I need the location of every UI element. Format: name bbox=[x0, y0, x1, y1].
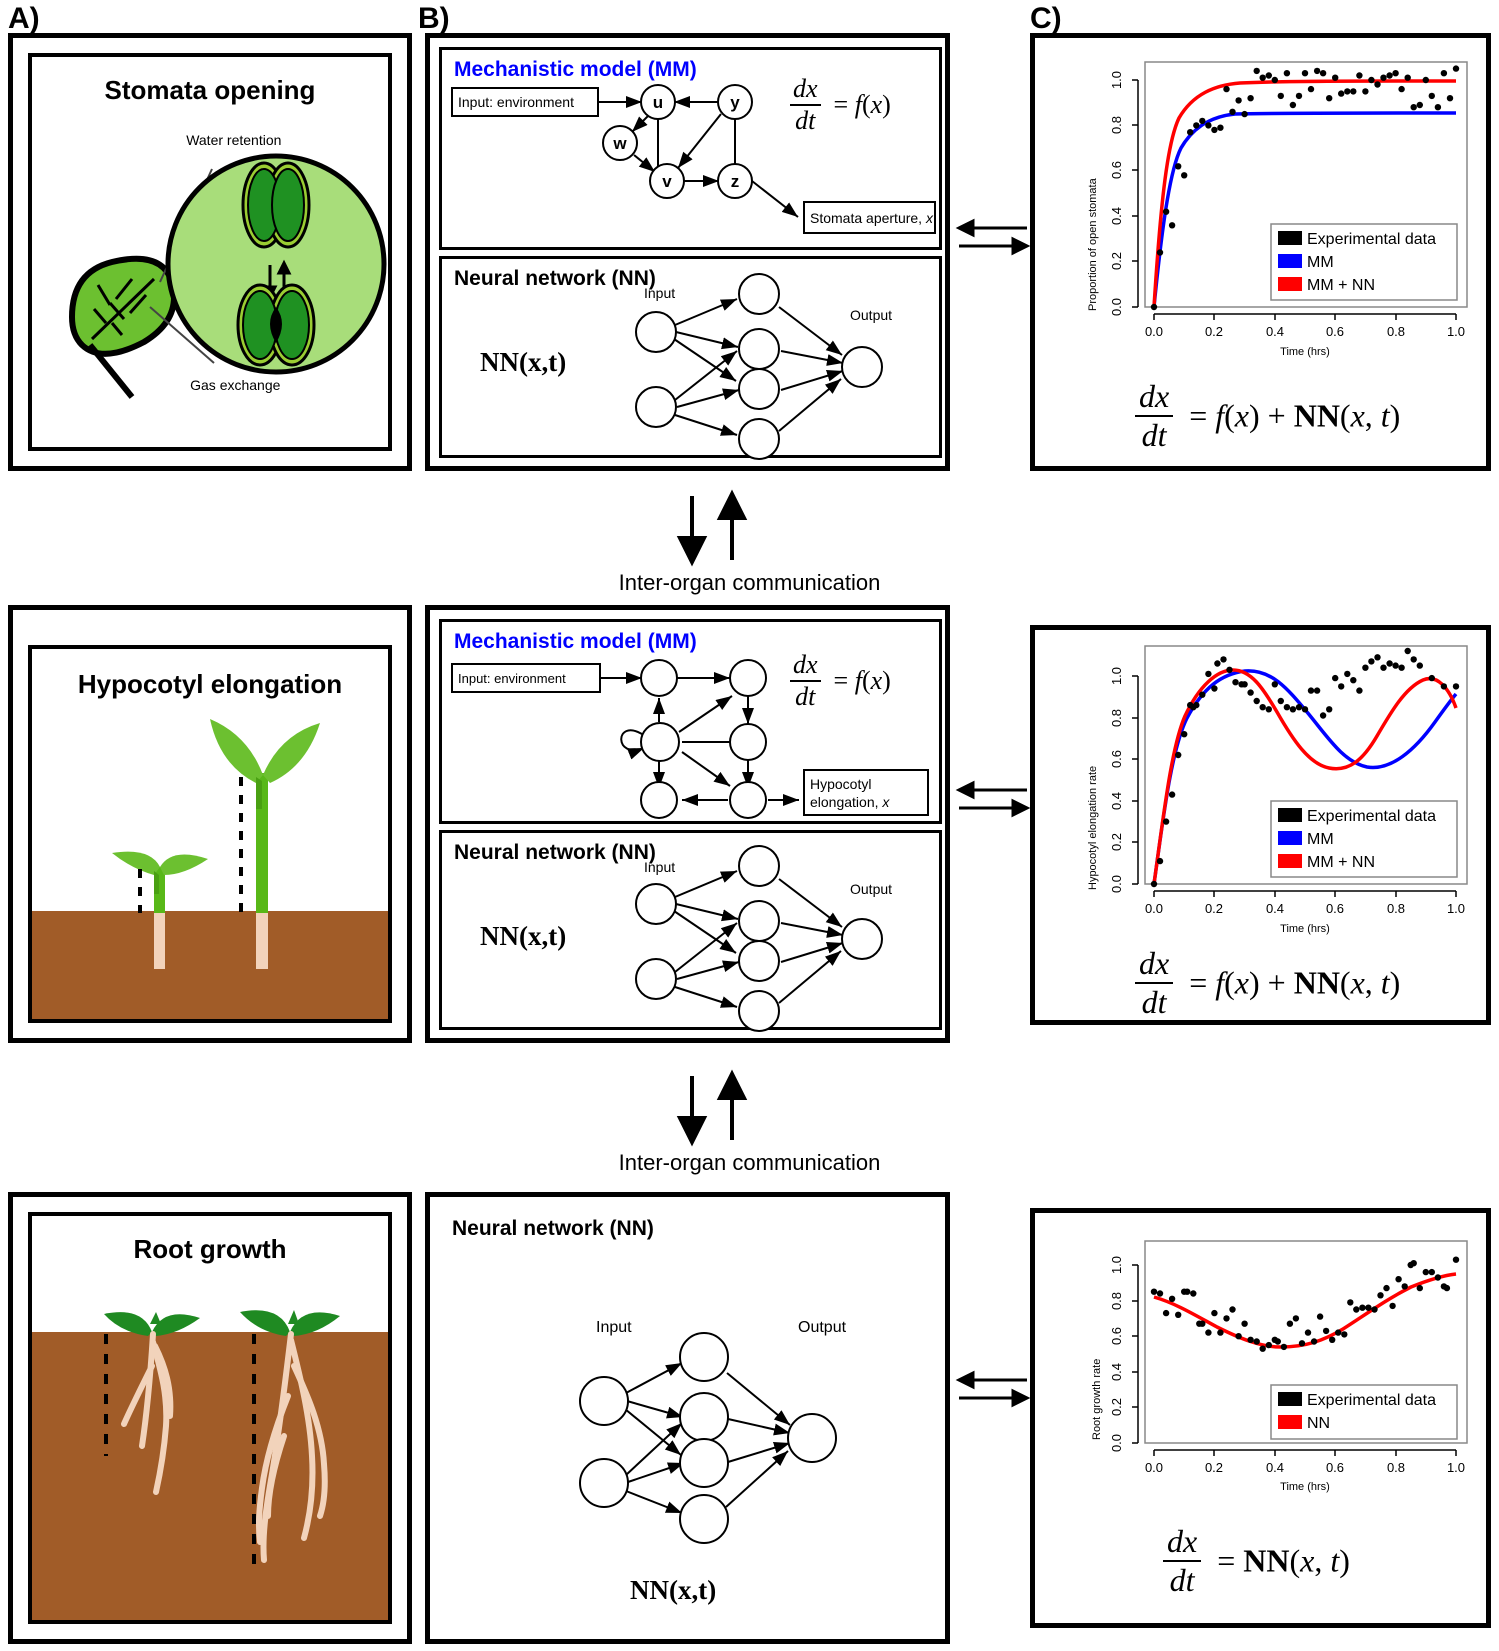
svg-text:MM + NN: MM + NN bbox=[1307, 854, 1375, 871]
root-illustration-box: Root growth bbox=[28, 1212, 392, 1624]
svg-text:0.6: 0.6 bbox=[1326, 901, 1344, 916]
svg-text:1.0: 1.0 bbox=[1109, 71, 1124, 89]
svg-text:0.8: 0.8 bbox=[1387, 1460, 1405, 1475]
svg-text:0.6: 0.6 bbox=[1326, 324, 1344, 339]
svg-text:0.8: 0.8 bbox=[1387, 324, 1405, 339]
svg-text:0.8: 0.8 bbox=[1109, 116, 1124, 134]
svg-text:0.2: 0.2 bbox=[1109, 252, 1124, 270]
inter-organ-communication-1: Inter-organ communication bbox=[0, 570, 1499, 596]
svg-text:elongation, x: elongation, x bbox=[810, 794, 890, 810]
hypocotyl-legend: Experimental data MM MM + NN bbox=[1271, 801, 1457, 877]
stomata-legend: Experimental data MM MM + NN bbox=[1271, 224, 1457, 300]
hypocotyl-illustration-box: Hypocotyl elongation bbox=[28, 645, 392, 1023]
svg-text:0.8: 0.8 bbox=[1387, 901, 1405, 916]
inter-organ-arrows-1 bbox=[670, 488, 770, 566]
stomata-mm-box: Mechanistic model (MM) dx dt = f(x) Inpu… bbox=[439, 47, 942, 250]
stomata-diagram bbox=[32, 57, 396, 455]
closed-stoma-icon bbox=[243, 163, 309, 247]
mm-network-diagram: Input: environment Stomata aperture, x bbox=[442, 50, 945, 253]
svg-text:Input: environment: Input: environment bbox=[458, 671, 566, 686]
row-stomata-panel-b: Mechanistic model (MM) dx dt = f(x) Inpu… bbox=[425, 33, 950, 471]
chart-xlabel: Time (hrs) bbox=[1154, 923, 1456, 935]
root-final-equation: dx dt = NN(x, t) bbox=[1163, 1523, 1350, 1599]
row-root-panel-b: Neural network (NN) NN(x,t) Input Output bbox=[425, 1192, 950, 1644]
svg-text:0.4: 0.4 bbox=[1266, 901, 1284, 916]
svg-text:1.0: 1.0 bbox=[1447, 324, 1465, 339]
svg-text:0.2: 0.2 bbox=[1205, 901, 1223, 916]
row-hypocotyl-panel-c: Hypocotyl elongation rate 0.0 0.2 0.4 0.… bbox=[1030, 625, 1491, 1025]
svg-text:Experimental data: Experimental data bbox=[1307, 808, 1436, 825]
svg-text:0.2: 0.2 bbox=[1109, 833, 1124, 851]
root-diagram bbox=[32, 1216, 392, 1624]
svg-text:0.2: 0.2 bbox=[1205, 1460, 1223, 1475]
svg-text:1.0: 1.0 bbox=[1109, 667, 1124, 685]
svg-text:0.0: 0.0 bbox=[1109, 875, 1124, 893]
hypocotyl-diagram bbox=[32, 649, 392, 1023]
chart-xlabel: Time (hrs) bbox=[1154, 346, 1456, 358]
row-root-panel-c: Root growth rate 0.0 0.2 0.4 0.6 0.8 1.0 bbox=[1030, 1208, 1491, 1628]
svg-text:0.4: 0.4 bbox=[1109, 207, 1124, 225]
svg-text:v: v bbox=[662, 172, 672, 191]
svg-text:0.4: 0.4 bbox=[1266, 324, 1284, 339]
svg-text:MM + NN: MM + NN bbox=[1307, 277, 1375, 294]
row-stomata-panel-c: Proportion of open stomata 0.0 0.2 0.4 0… bbox=[1030, 33, 1491, 471]
mm-network-diagram: Input: environment Hypocotyl elongation,… bbox=[442, 622, 945, 827]
svg-text:0.6: 0.6 bbox=[1109, 1327, 1124, 1345]
svg-text:0.4: 0.4 bbox=[1266, 1460, 1284, 1475]
hypocotyl-nn-box: Neural network (NN) NN(x,t) Input Output bbox=[439, 830, 942, 1030]
leaf-icon bbox=[72, 259, 174, 397]
svg-text:NN: NN bbox=[1307, 1415, 1330, 1432]
svg-text:0.0: 0.0 bbox=[1145, 1460, 1163, 1475]
svg-text:0.6: 0.6 bbox=[1326, 1460, 1344, 1475]
arrow-b-c-stomata bbox=[955, 218, 1030, 263]
svg-text:MM: MM bbox=[1307, 831, 1334, 848]
svg-text:1.0: 1.0 bbox=[1109, 1256, 1124, 1274]
hypocotyl-final-equation: dx dt = f(x) + NN(x, t) bbox=[1135, 945, 1400, 1021]
open-stoma-icon bbox=[238, 285, 314, 365]
root-chart-svg[interactable]: 0.0 0.2 0.4 0.6 0.8 1.0 0.00.20.4 0.60.8… bbox=[1075, 1225, 1475, 1505]
svg-text:0.6: 0.6 bbox=[1109, 750, 1124, 768]
arrow-b-c-hypocotyl bbox=[955, 780, 1030, 825]
panel-letter-c: C) bbox=[1030, 2, 1062, 36]
inter-organ-communication-2: Inter-organ communication bbox=[0, 1150, 1499, 1176]
svg-text:z: z bbox=[731, 172, 740, 191]
svg-text:0.2: 0.2 bbox=[1205, 324, 1223, 339]
panel-letter-b: B) bbox=[418, 2, 450, 36]
svg-text:1.0: 1.0 bbox=[1447, 1460, 1465, 1475]
nn-diagram bbox=[430, 1197, 955, 1649]
svg-text:Experimental data: Experimental data bbox=[1307, 1392, 1436, 1409]
svg-text:MM: MM bbox=[1307, 254, 1334, 271]
hypocotyl-chart-svg[interactable]: 0.0 0.2 0.4 0.6 0.8 1.0 0.00.20.4 0.60.8… bbox=[1075, 640, 1475, 930]
stomata-nn-box: Neural network (NN) NN(x,t) Input Output bbox=[439, 256, 942, 458]
panel-letter-a: A) bbox=[8, 2, 40, 36]
inter-organ-arrows-2 bbox=[670, 1068, 770, 1146]
arrow-b-c-root bbox=[955, 1370, 1030, 1415]
stomata-chart-container: Proportion of open stomata 0.0 0.2 0.4 0… bbox=[1075, 56, 1475, 356]
nn-diagram bbox=[442, 259, 945, 461]
svg-text:0.0: 0.0 bbox=[1109, 1434, 1124, 1452]
stomata-illustration-box: Stomata opening Water retention Gas exch… bbox=[28, 53, 392, 451]
root-chart-container: Root growth rate 0.0 0.2 0.4 0.6 0.8 1.0 bbox=[1075, 1225, 1475, 1505]
svg-text:0.8: 0.8 bbox=[1109, 1292, 1124, 1310]
hypocotyl-chart-container: Hypocotyl elongation rate 0.0 0.2 0.4 0.… bbox=[1075, 640, 1475, 930]
svg-text:w: w bbox=[612, 134, 627, 153]
stomata-chart-svg[interactable]: 0.0 0.2 0.4 0.6 0.8 1.0 0.00.20.4 0.60.8… bbox=[1075, 56, 1475, 356]
svg-text:Stomata aperture, x: Stomata aperture, x bbox=[810, 210, 934, 226]
svg-text:0.2: 0.2 bbox=[1109, 1398, 1124, 1416]
svg-text:0.4: 0.4 bbox=[1109, 1363, 1124, 1381]
svg-text:Hypocotyl: Hypocotyl bbox=[810, 776, 871, 792]
svg-text:0.0: 0.0 bbox=[1145, 324, 1163, 339]
stomata-final-equation: dx dt = f(x) + NN(x, t) bbox=[1135, 378, 1400, 454]
svg-text:0.8: 0.8 bbox=[1109, 709, 1124, 727]
svg-text:Input: environment: Input: environment bbox=[458, 94, 574, 110]
svg-text:Experimental data: Experimental data bbox=[1307, 231, 1436, 248]
svg-text:0.4: 0.4 bbox=[1109, 792, 1124, 810]
svg-text:0.0: 0.0 bbox=[1145, 901, 1163, 916]
svg-text:u: u bbox=[653, 93, 663, 112]
hypocotyl-mm-box: Mechanistic model (MM) dx dt = f(x) Inpu… bbox=[439, 619, 942, 824]
svg-text:0.6: 0.6 bbox=[1109, 161, 1124, 179]
svg-text:0.0: 0.0 bbox=[1109, 298, 1124, 316]
svg-text:1.0: 1.0 bbox=[1447, 901, 1465, 916]
row-hypocotyl-panel-b: Mechanistic model (MM) dx dt = f(x) Inpu… bbox=[425, 605, 950, 1043]
chart-xlabel: Time (hrs) bbox=[1154, 1481, 1456, 1493]
nn-diagram bbox=[442, 833, 945, 1033]
root-legend: Experimental data NN bbox=[1271, 1385, 1457, 1439]
svg-text:y: y bbox=[730, 93, 740, 112]
